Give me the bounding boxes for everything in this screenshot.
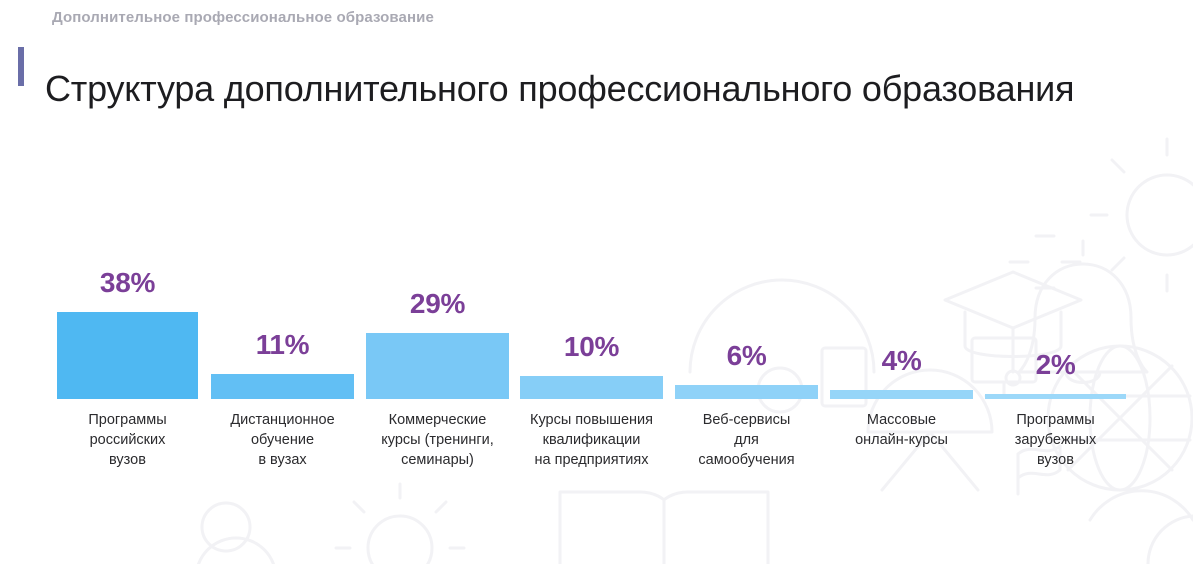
eyebrow-label: Дополнительное профессиональное образова… (52, 9, 434, 26)
bar-category-line: зарубежных (979, 430, 1132, 450)
bar-rect[interactable] (520, 376, 663, 399)
bar-column[interactable]: 38%Программыроссийскихвузов (57, 225, 198, 515)
bar-rect[interactable] (57, 312, 198, 399)
bar-column[interactable]: 29%Коммерческиекурсы (тренинги,семинары) (366, 225, 509, 515)
bar-category-line: вузов (51, 450, 204, 470)
bar-category-line: Программы (51, 410, 204, 430)
bar-category-line: курсы (тренинги, (360, 430, 515, 450)
bar-value-label: 38% (57, 267, 198, 299)
bar-rect[interactable] (830, 390, 973, 399)
bar-category-label: Коммерческиекурсы (тренинги,семинары) (360, 410, 515, 470)
bar-category-line: самообучения (669, 450, 824, 470)
bar-value-label: 29% (366, 288, 509, 320)
bar-category-line: квалификации (514, 430, 669, 450)
bar-category-label: Программызарубежныхвузов (979, 410, 1132, 470)
bar-column[interactable]: 10%Курсы повышенияквалификациина предпри… (520, 225, 663, 515)
bar-category-label: Веб-сервисыдлясамообучения (669, 410, 824, 470)
bar-value-label: 10% (520, 331, 663, 363)
title-accent-bar (18, 47, 24, 86)
bar-rect[interactable] (211, 374, 354, 399)
bar-rect[interactable] (675, 385, 818, 399)
bar-value-label: 6% (675, 340, 818, 372)
bar-rect[interactable] (985, 394, 1126, 399)
page-title: Структура дополнительного профессиональн… (45, 68, 1074, 110)
bar-column[interactable]: 6%Веб-сервисыдлясамообучения (675, 225, 818, 515)
bar-category-label: Массовыеонлайн-курсы (824, 410, 979, 450)
bar-category-line: Дистанционное (205, 410, 360, 430)
bar-column[interactable]: 4%Массовыеонлайн-курсы (830, 225, 973, 515)
bar-category-line: для (669, 430, 824, 450)
bar-category-line: Массовые (824, 410, 979, 430)
bar-value-label: 2% (985, 349, 1126, 381)
bar-category-label: Программыроссийскихвузов (51, 410, 204, 470)
bar-category-line: в вузах (205, 450, 360, 470)
bar-category-line: вузов (979, 450, 1132, 470)
bar-category-line: обучение (205, 430, 360, 450)
bar-column[interactable]: 2%Программызарубежныхвузов (985, 225, 1126, 515)
bar-category-line: Курсы повышения (514, 410, 669, 430)
bar-category-line: Веб-сервисы (669, 410, 824, 430)
bar-value-label: 4% (830, 345, 973, 377)
bar-rect[interactable] (366, 333, 509, 399)
bar-category-label: Курсы повышенияквалификациина предприяти… (514, 410, 669, 470)
bar-category-line: российских (51, 430, 204, 450)
bar-category-label: Дистанционноеобучениев вузах (205, 410, 360, 470)
bar-category-line: онлайн-курсы (824, 430, 979, 450)
bar-category-line: на предприятиях (514, 450, 669, 470)
bar-value-label: 11% (211, 329, 354, 361)
bar-category-line: Коммерческие (360, 410, 515, 430)
bar-column[interactable]: 11%Дистанционноеобучениев вузах (211, 225, 354, 515)
slide-canvas: Дополнительное профессиональное образова… (0, 0, 1193, 564)
bar-category-line: Программы (979, 410, 1132, 430)
bar-category-line: семинары) (360, 450, 515, 470)
